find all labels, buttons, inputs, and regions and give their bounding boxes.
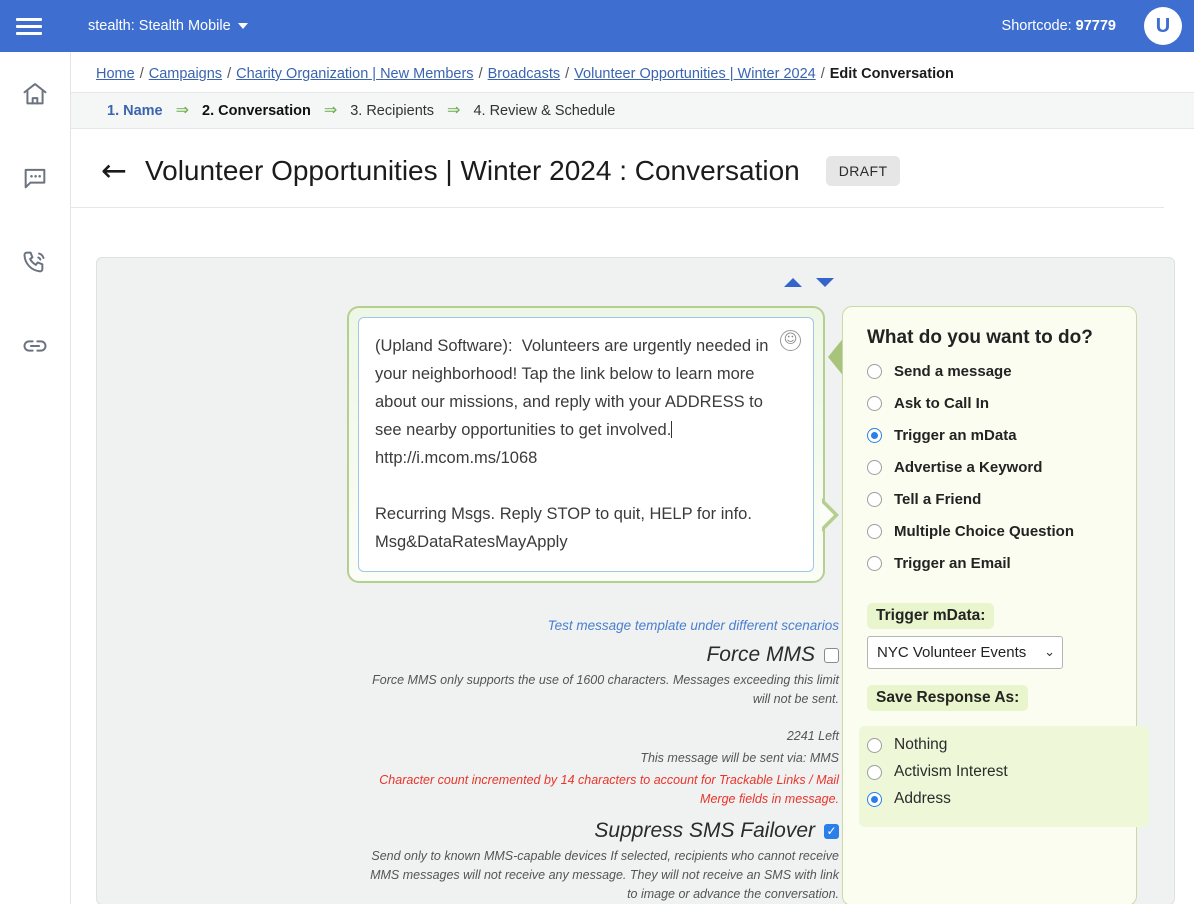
app-root: stealth: Stealth Mobile Shortcode: 97779… (0, 0, 1194, 904)
radio-icon[interactable] (867, 524, 882, 539)
action-option-tell-a-friend[interactable]: Tell a Friend (867, 491, 1136, 508)
message-url: http://i.mcom.ms/1068 (375, 449, 537, 467)
radio-icon[interactable] (867, 492, 882, 507)
arrow-left-icon[interactable]: ← (101, 156, 127, 187)
radio-icon-selected[interactable] (867, 428, 882, 443)
save-option-label: Activism Interest (894, 763, 1008, 781)
account-name: stealth: Stealth Mobile (88, 18, 231, 34)
message-body: (Upland Software): Volunteers are urgent… (375, 332, 773, 556)
breadcrumb: Home/Campaigns/Charity Organization | Ne… (71, 52, 1194, 92)
status-badge: DRAFT (826, 156, 901, 186)
action-option-ask-to-call-in[interactable]: Ask to Call In (867, 395, 1136, 412)
radio-icon[interactable] (867, 364, 882, 379)
suppress-sms-failover-hint: Send only to known MMS-capable devices I… (367, 847, 839, 904)
suppress-sms-failover-row[interactable]: Suppress SMS Failover ✓ (367, 819, 839, 843)
breadcrumb-separator: / (140, 66, 144, 82)
message-footer: Recurring Msgs. Reply STOP to quit, HELP… (375, 505, 757, 551)
save-option-address[interactable]: Address (867, 790, 1139, 808)
phone-ring-icon (21, 248, 49, 276)
breadcrumb-item-current: Edit Conversation (830, 66, 954, 82)
page-header: ← Volunteer Opportunities | Winter 2024 … (71, 129, 1164, 208)
step-3-recipients[interactable]: 3. Recipients (350, 103, 434, 119)
radio-icon[interactable] (867, 460, 882, 475)
action-option-label: Advertise a Keyword (894, 459, 1042, 476)
radio-icon[interactable] (867, 765, 882, 780)
shortcode-display: Shortcode: 97779 (1002, 0, 1116, 52)
left-nav-rail (0, 52, 70, 904)
breadcrumb-separator: / (479, 66, 483, 82)
message-input[interactable]: ☺ (Upland Software): Volunteers are urge… (358, 317, 814, 572)
avatar-initial: U (1156, 15, 1170, 38)
save-option-label: Address (894, 790, 951, 808)
message-settings: Test message template under different sc… (367, 618, 839, 904)
force-mms-label: Force MMS (706, 643, 815, 667)
action-option-label: Ask to Call In (894, 395, 989, 412)
message-text: (Upland Software): Volunteers are urgent… (375, 337, 773, 439)
radio-icon[interactable] (867, 738, 882, 753)
shortcode-value: 97779 (1076, 18, 1116, 34)
step-arrow-icon: ⇒ (447, 103, 460, 119)
save-response-options: Nothing Activism Interest Address (859, 726, 1149, 827)
home-icon (21, 80, 49, 108)
step-2-conversation[interactable]: 2. Conversation (202, 103, 311, 119)
breadcrumb-item-broadcasts[interactable]: Broadcasts (488, 66, 561, 82)
action-option-advertise-a-keyword[interactable]: Advertise a Keyword (867, 459, 1136, 476)
force-mms-row[interactable]: Force MMS (367, 643, 839, 667)
force-mms-hint: Force MMS only supports the use of 1600 … (367, 671, 839, 709)
trigger-mdata-label: Trigger mData: (867, 603, 994, 629)
chevron-down-icon[interactable] (816, 278, 834, 287)
step-4-review-schedule[interactable]: 4. Review & Schedule (473, 103, 615, 119)
trigger-mdata-select[interactable]: NYC Volunteer Events ⌄ (867, 636, 1063, 669)
step-1-name[interactable]: 1. Name (107, 103, 163, 119)
step-arrow-icon: ⇒ (176, 103, 189, 119)
action-option-multiple-choice-question[interactable]: Multiple Choice Question (867, 523, 1136, 540)
account-switcher[interactable]: stealth: Stealth Mobile (88, 18, 248, 34)
action-option-label: Trigger an mData (894, 427, 1017, 444)
action-option-label: Send a message (894, 363, 1012, 380)
trigger-mdata-value: NYC Volunteer Events (877, 644, 1026, 661)
radio-icon-selected[interactable] (867, 792, 882, 807)
breadcrumb-item-charity-organization[interactable]: Charity Organization | New Members (236, 66, 473, 82)
test-message-template-link[interactable]: Test message template under different sc… (367, 618, 839, 633)
send-via: This message will be sent via: MMS (367, 749, 839, 768)
action-option-trigger-an-email[interactable]: Trigger an Email (867, 555, 1136, 572)
link-icon (21, 332, 49, 360)
conversation-editor-panel: ☺ (Upland Software): Volunteers are urge… (96, 257, 1175, 904)
action-option-label: Trigger an Email (894, 555, 1011, 572)
action-option-send-a-message[interactable]: Send a message (867, 363, 1136, 380)
breadcrumb-item-home[interactable]: Home (96, 66, 135, 82)
force-mms-checkbox[interactable] (824, 648, 839, 663)
save-option-label: Nothing (894, 736, 947, 754)
reorder-controls (784, 278, 834, 287)
page-title: Volunteer Opportunities | Winter 2024 : … (145, 155, 800, 187)
character-count-warning: Character count incremented by 14 charac… (367, 771, 839, 809)
breadcrumb-separator: / (821, 66, 825, 82)
radio-icon[interactable] (867, 396, 882, 411)
main-content: Home/Campaigns/Charity Organization | Ne… (70, 52, 1194, 904)
sidebar-item-links[interactable] (0, 304, 70, 388)
sidebar-item-voice[interactable] (0, 220, 70, 304)
message-bubble: ☺ (Upland Software): Volunteers are urge… (347, 306, 825, 583)
message-icon (21, 164, 49, 192)
top-bar: stealth: Stealth Mobile Shortcode: 97779… (0, 0, 1194, 52)
text-caret (671, 421, 672, 438)
breadcrumb-item-volunteer-opportunities[interactable]: Volunteer Opportunities | Winter 2024 (574, 66, 816, 82)
chevron-down-icon (238, 23, 248, 29)
chars-left: 2241 Left (367, 727, 839, 746)
wizard-steps: 1. Name ⇒ 2. Conversation ⇒ 3. Recipient… (71, 92, 1194, 129)
sidebar-item-messages[interactable] (0, 136, 70, 220)
emoji-smile-icon[interactable]: ☺ (780, 330, 801, 351)
breadcrumb-separator: / (565, 66, 569, 82)
radio-icon[interactable] (867, 556, 882, 571)
action-option-trigger-an-mdata[interactable]: Trigger an mData (867, 427, 1136, 444)
shortcode-label: Shortcode: (1002, 18, 1072, 34)
chevron-down-icon: ⌄ (1044, 645, 1055, 660)
chevron-up-icon[interactable] (784, 278, 802, 287)
save-option-nothing[interactable]: Nothing (867, 736, 1139, 754)
step-arrow-icon: ⇒ (324, 103, 337, 119)
avatar[interactable]: U (1144, 7, 1182, 45)
action-type-panel: What do you want to do? Send a message A… (842, 306, 1137, 904)
save-option-activism-interest[interactable]: Activism Interest (867, 763, 1139, 781)
save-response-as-label: Save Response As: (867, 685, 1028, 711)
message-bubble-wrapper: ☺ (Upland Software): Volunteers are urge… (347, 306, 839, 583)
action-option-label: Tell a Friend (894, 491, 981, 508)
suppress-sms-failover-label: Suppress SMS Failover (594, 819, 815, 843)
suppress-sms-failover-checkbox[interactable]: ✓ (824, 824, 839, 839)
action-option-label: Multiple Choice Question (894, 523, 1074, 540)
breadcrumb-item-campaigns[interactable]: Campaigns (149, 66, 222, 82)
sidebar-item-home[interactable] (0, 52, 70, 136)
breadcrumb-separator: / (227, 66, 231, 82)
hamburger-icon[interactable] (0, 0, 58, 52)
action-panel-heading: What do you want to do? (867, 327, 1136, 349)
